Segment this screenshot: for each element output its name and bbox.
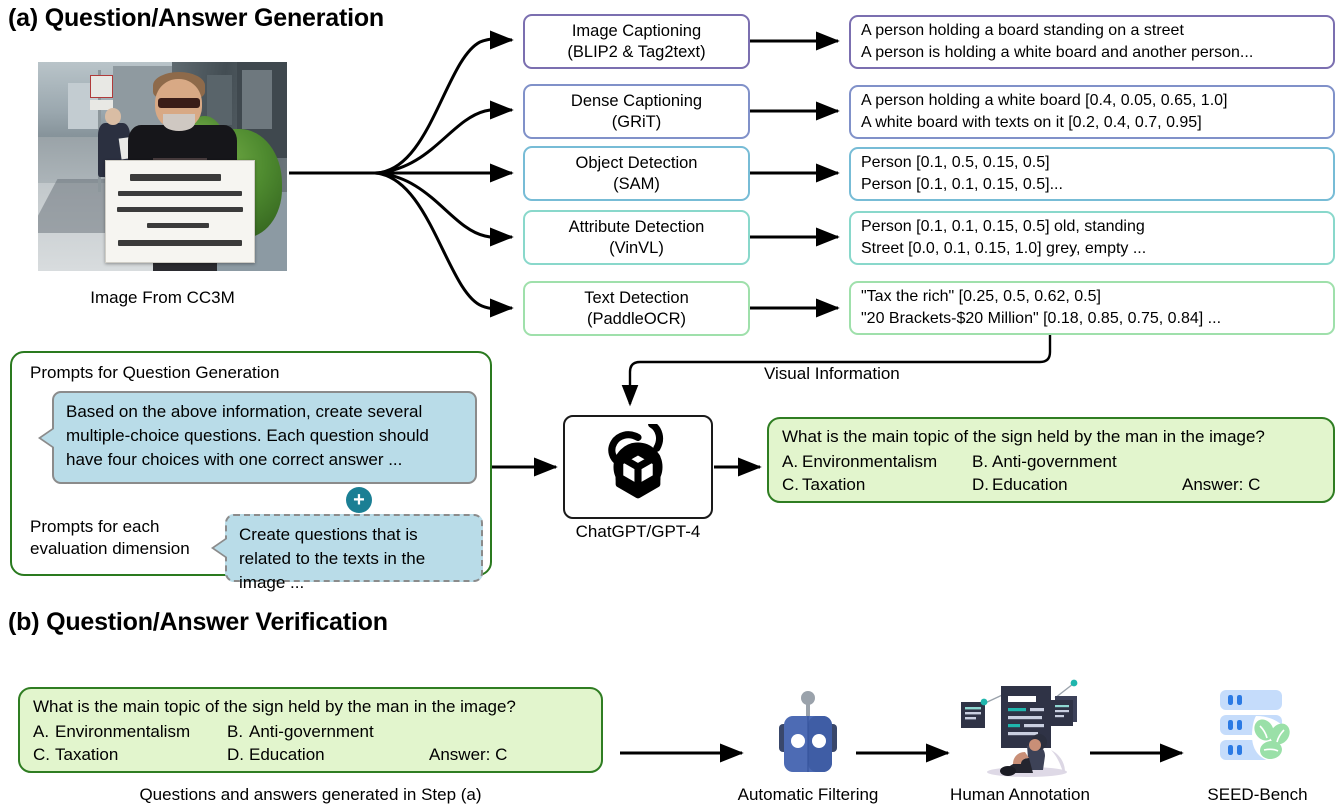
output-line-1: "Tax the rich" [0.25, 0.5, 0.62, 0.5] <box>861 286 1323 308</box>
process-box-attribute-detection[interactable]: Attribute Detection (VinVL) <box>523 210 750 265</box>
database-seed-icon <box>1218 688 1296 768</box>
automatic-filtering-label: Automatic Filtering <box>718 785 898 805</box>
output-line-2: A white board with texts on it [0.2, 0.4… <box>861 112 1323 134</box>
output-line-2: Street [0.0, 0.1, 0.15, 1.0] grey, empty… <box>861 238 1323 260</box>
process-box-dense-captioning[interactable]: Dense Captioning (GRiT) <box>523 84 750 139</box>
visual-information-label: Visual Information <box>764 364 900 384</box>
qa-choice-row-1: A. Environmentalism B. Anti-government <box>33 721 588 744</box>
qa-choice-row-2: C. Taxation D. Education Answer: C <box>33 744 588 767</box>
qa-choice-text-d: Education <box>992 474 1182 497</box>
qa-choice-row-2: C. Taxation D. Education Answer: C <box>782 474 1320 497</box>
bubble-tail <box>41 429 54 447</box>
process-box-image-captioning[interactable]: Image Captioning (BLIP2 & Tag2text) <box>523 14 750 69</box>
output-line-1: Person [0.1, 0.5, 0.15, 0.5] <box>861 152 1323 174</box>
process-name: Dense Captioning <box>571 91 702 112</box>
plus-icon: + <box>346 487 372 513</box>
qa-choice-text-c: Taxation <box>802 474 972 497</box>
process-box-object-detection[interactable]: Object Detection (SAM) <box>523 146 750 201</box>
human-annotation-step <box>955 672 1085 780</box>
robot-icon <box>762 688 854 780</box>
output-box-text-detection: "Tax the rich" [0.25, 0.5, 0.62, 0.5] "2… <box>849 281 1335 335</box>
process-model: (SAM) <box>576 174 698 195</box>
qa-choice-key-d: D. <box>972 474 992 497</box>
output-box-dense-captioning: A person holding a white board [0.4, 0.0… <box>849 85 1335 139</box>
main-prompt-bubble[interactable]: Based on the above information, create s… <box>52 391 477 484</box>
bubble-tail <box>214 539 227 557</box>
dimension-prompt-label: Prompts for each evaluation dimension <box>30 516 190 560</box>
qa-choice-text-d: Education <box>249 744 429 767</box>
output-line-2: A person is holding a white board and an… <box>861 42 1323 64</box>
process-name: Object Detection <box>576 153 698 174</box>
person-annotating-icon <box>955 672 1085 780</box>
qa-choice-key-b: B. <box>972 451 992 474</box>
section-a-title: (a) Question/Answer Generation <box>8 4 384 33</box>
qa-choice-key-b: B. <box>227 721 249 744</box>
openai-logo-icon <box>595 424 681 510</box>
qa-box-verification: What is the main topic of the sign held … <box>18 687 603 773</box>
chatgpt-model-box[interactable] <box>563 415 713 519</box>
dimension-label-line-1: Prompts for each <box>30 517 159 536</box>
qa-question: What is the main topic of the sign held … <box>782 426 1320 449</box>
process-box-text-detection[interactable]: Text Detection (PaddleOCR) <box>523 281 750 336</box>
process-name: Image Captioning <box>567 21 705 42</box>
qa-choice-text-c: Taxation <box>55 744 227 767</box>
prompts-container: Prompts for Question Generation Based on… <box>10 351 492 576</box>
process-model: (GRiT) <box>571 112 702 133</box>
qa-choice-key-c: C. <box>33 744 55 767</box>
output-box-object-detection: Person [0.1, 0.5, 0.15, 0.5] Person [0.1… <box>849 147 1335 201</box>
chatgpt-model-caption: ChatGPT/GPT-4 <box>563 522 713 542</box>
dimension-label-line-2: evaluation dimension <box>30 539 190 558</box>
photo-caption: Image From CC3M <box>38 288 287 308</box>
qa-choice-key-c: C. <box>782 474 802 497</box>
output-line-1: A person holding a white board [0.4, 0.0… <box>861 90 1323 112</box>
qa-choice-row-1: A. Environmentalism B. Anti-government <box>782 451 1320 474</box>
human-annotation-label: Human Annotation <box>930 785 1110 805</box>
qa-answer: Answer: C <box>429 744 507 767</box>
output-line-2: "20 Brackets-$20 Million" [0.18, 0.85, 0… <box>861 308 1323 330</box>
qa-choice-text-b: Anti-government <box>249 721 374 744</box>
seed-bench-label: SEED-Bench <box>1185 785 1330 805</box>
process-model: (BLIP2 & Tag2text) <box>567 42 705 63</box>
qa-choice-key-a: A. <box>33 721 55 744</box>
qa-choice-text-a: Environmentalism <box>802 451 972 474</box>
qa-answer: Answer: C <box>1182 474 1260 497</box>
seed-bench-step <box>1218 688 1296 768</box>
protest-sign <box>105 160 254 262</box>
qa-choice-key-a: A. <box>782 451 802 474</box>
qa-choice-text-a: Environmentalism <box>55 721 227 744</box>
main-prompt-text: Based on the above information, create s… <box>66 402 429 469</box>
process-name: Attribute Detection <box>569 217 705 238</box>
plus-symbol: + <box>353 490 365 510</box>
qa-choice-key-d: D. <box>227 744 249 767</box>
output-line-2: Person [0.1, 0.1, 0.15, 0.5]... <box>861 174 1323 196</box>
dimension-prompt-text: Create questions that is related to the … <box>239 525 425 592</box>
output-line-1: A person holding a board standing on a s… <box>861 20 1323 42</box>
qa-choice-text-b: Anti-government <box>992 451 1117 474</box>
verification-source-caption: Questions and answers generated in Step … <box>18 785 603 805</box>
source-photo <box>38 62 287 271</box>
process-model: (PaddleOCR) <box>584 309 689 330</box>
automatic-filtering-step <box>762 688 854 780</box>
process-model: (VinVL) <box>569 238 705 259</box>
section-b-title: (b) Question/Answer Verification <box>8 608 388 637</box>
prompts-container-title: Prompts for Question Generation <box>30 363 279 383</box>
process-name: Text Detection <box>584 288 689 309</box>
dimension-prompt-bubble[interactable]: Create questions that is related to the … <box>225 514 483 582</box>
output-box-attribute-detection: Person [0.1, 0.1, 0.15, 0.5] old, standi… <box>849 211 1335 265</box>
qa-box-generated: What is the main topic of the sign held … <box>767 417 1335 503</box>
output-line-1: Person [0.1, 0.1, 0.15, 0.5] old, standi… <box>861 216 1323 238</box>
output-box-image-captioning: A person holding a board standing on a s… <box>849 15 1335 69</box>
qa-question: What is the main topic of the sign held … <box>33 696 588 719</box>
